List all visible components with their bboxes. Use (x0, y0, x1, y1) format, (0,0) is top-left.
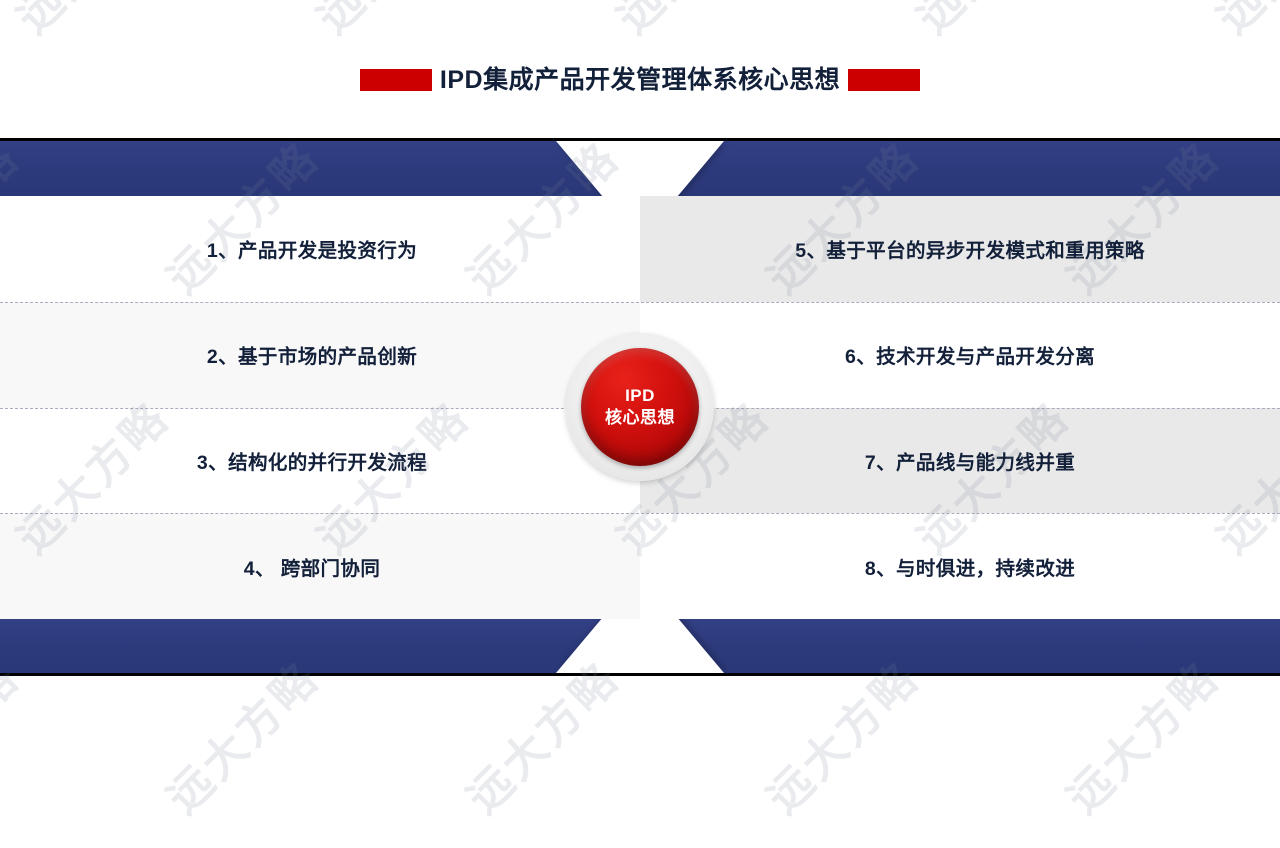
title-text: IPD集成产品开发管理体系核心思想 (440, 68, 840, 93)
top-blue-band (0, 138, 1280, 196)
title-accent-left (360, 69, 432, 91)
concept-label-3: 3、结构化的并行开发流程 (197, 446, 427, 475)
concept-label-4: 4、 跨部门协同 (244, 552, 380, 581)
ipd-core-concepts-diagram: 1、产品开发是投资行为 5、基于平台的异步开发模式和重用策略 2、基于市场的产品… (0, 138, 1280, 676)
title-accent-right (848, 69, 920, 91)
watermark-text: 远大方略 (900, 0, 1081, 45)
watermark-text: 远大方略 (0, 0, 181, 45)
concept-label-6: 6、技术开发与产品开发分离 (845, 340, 1095, 369)
page-title: IPD集成产品开发管理体系核心思想 (0, 58, 1280, 102)
watermark-text: 远大方略 (300, 0, 481, 45)
concepts-row: 1、产品开发是投资行为 5、基于平台的异步开发模式和重用策略 (0, 196, 1280, 302)
center-hub[interactable]: IPD 核心思想 (566, 333, 714, 481)
bottom-blue-band (0, 619, 1280, 676)
center-hub-core: IPD 核心思想 (581, 348, 699, 466)
concept-cell-3[interactable]: 3、结构化的并行开发流程 (0, 408, 640, 514)
concept-cell-8[interactable]: 8、与时俱进，持续改进 (640, 513, 1280, 619)
concept-label-1: 1、产品开发是投资行为 (207, 234, 417, 263)
top-notch-triangle-icon (556, 141, 724, 196)
concept-cell-6[interactable]: 6、技术开发与产品开发分离 (640, 302, 1280, 408)
watermark-text: 远大方略 (600, 0, 781, 45)
watermark-text: 远大方略 (1200, 0, 1280, 45)
concept-label-8: 8、与时俱进，持续改进 (865, 552, 1075, 581)
concepts-row: 4、 跨部门协同 8、与时俱进，持续改进 (0, 513, 1280, 619)
hub-title: IPD (625, 386, 655, 406)
concept-cell-1[interactable]: 1、产品开发是投资行为 (0, 196, 640, 302)
concept-label-2: 2、基于市场的产品创新 (207, 340, 417, 369)
concept-label-7: 7、产品线与能力线并重 (865, 446, 1075, 475)
slide-canvas: IPD集成产品开发管理体系核心思想 1、产品开发是投资行为 5、基于平台的异步开… (0, 0, 1280, 848)
concept-cell-4[interactable]: 4、 跨部门协同 (0, 513, 640, 619)
concept-cell-7[interactable]: 7、产品线与能力线并重 (640, 408, 1280, 514)
concept-label-5: 5、基于平台的异步开发模式和重用策略 (795, 234, 1145, 263)
hub-subtitle: 核心思想 (605, 408, 675, 428)
concept-cell-2[interactable]: 2、基于市场的产品创新 (0, 302, 640, 408)
bottom-notch-triangle-icon (556, 619, 724, 673)
concept-cell-5[interactable]: 5、基于平台的异步开发模式和重用策略 (640, 196, 1280, 302)
